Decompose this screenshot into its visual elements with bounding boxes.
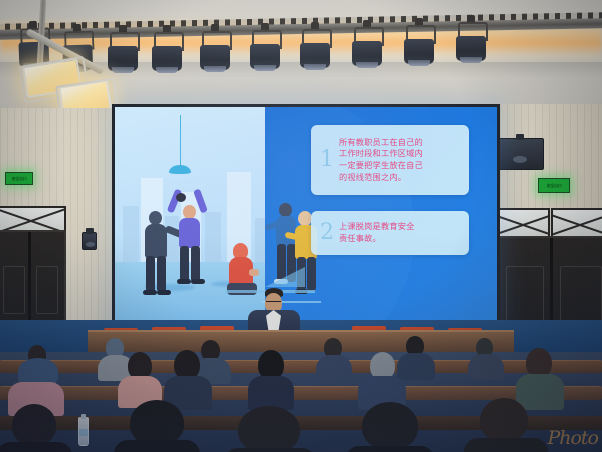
wall-speaker-right bbox=[496, 138, 544, 170]
exit-sign-right-label: 安全出口 bbox=[547, 184, 562, 188]
skyline-building bbox=[165, 216, 179, 262]
slide-card-1-text: 所有教职员工在自己的 工作时段和工作区域内 一定要把学生放在自己 的视线范围之内… bbox=[339, 137, 431, 184]
exit-sign-left-label: 安全出口 bbox=[12, 177, 27, 181]
auditorium-photo: 安全出口 安全出口 bbox=[0, 0, 602, 452]
exit-sign-right: 安全出口 bbox=[538, 178, 570, 193]
wall-speaker-left bbox=[82, 232, 97, 250]
pendant-lamp-cord bbox=[180, 115, 181, 167]
presenter-glasses bbox=[266, 301, 281, 305]
slide-card-2-text: 上课脱岗是教育安全 责任事故。 bbox=[339, 221, 423, 244]
slide-card-1: 1 所有教职员工在自己的 工作时段和工作区域内 一定要把学生放在自己 的视线范围… bbox=[311, 125, 469, 195]
slide-card-2: 2 上课脱岗是教育安全 责任事故。 bbox=[311, 211, 469, 255]
slide-card-2-number: 2 bbox=[320, 222, 334, 244]
presentation-slide: 1 所有教职员工在自己的 工作时段和工作区域内 一定要把学生放在自己 的视线范围… bbox=[115, 107, 497, 329]
exit-sign-left: 安全出口 bbox=[5, 172, 33, 185]
slide-card-1-number: 1 bbox=[320, 149, 334, 171]
bench-row bbox=[0, 386, 602, 400]
pendant-lamp-icon bbox=[169, 165, 191, 174]
bench-row bbox=[0, 360, 602, 373]
skyline-building bbox=[205, 212, 221, 262]
led-screen: 1 所有教职员工在自己的 工作时段和工作区域内 一定要把学生放在自己 的视线范围… bbox=[112, 104, 500, 332]
slide-accent-triangle bbox=[265, 267, 305, 287]
water-bottle bbox=[78, 417, 89, 446]
skyline-building bbox=[123, 206, 139, 262]
spotlight-icon bbox=[62, 31, 92, 32]
